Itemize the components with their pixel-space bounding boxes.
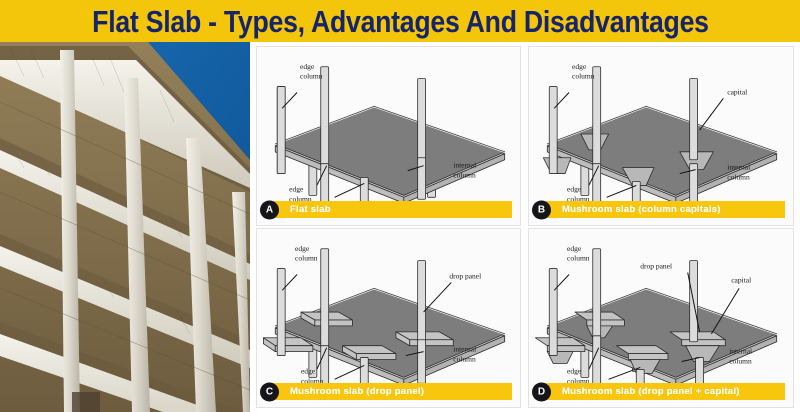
caption-label-c: Mushroom slab (drop panel): [290, 386, 424, 397]
figure-a: edge column edge column internal column: [257, 47, 520, 225]
photo-illustration: [0, 42, 250, 412]
label-drop-panel: drop panel: [449, 271, 481, 280]
label-edge-column-lower-line1: edge: [567, 184, 582, 193]
label-internal-column-line2: column: [453, 171, 476, 180]
label-internal-column-line2: column: [453, 355, 476, 364]
label-drop-panel: drop panel: [640, 262, 672, 271]
panel-c-mushroom-slab-drop-panel[interactable]: edge column edge column drop panel inter…: [256, 228, 521, 408]
title-banner: Flat Slab - Types, Advantages And Disadv…: [0, 0, 800, 42]
panel-badge-b: B: [532, 200, 551, 219]
caption-bar-d: D Mushroom slab (drop panel + capital): [543, 383, 785, 400]
label-edge-column-upper-line1: edge: [295, 244, 310, 253]
label-edge-column-upper-line2: column: [572, 72, 595, 81]
label-internal-column-line2: column: [727, 173, 750, 182]
label-capital: capital: [727, 87, 747, 96]
label-edge-column-upper-line2: column: [300, 72, 323, 81]
panel-badge-a: A: [260, 200, 279, 219]
panel-d-mushroom-slab-drop-panel-capital[interactable]: edge column edge column drop panel capit…: [528, 228, 794, 408]
panel-badge-c: C: [260, 382, 279, 401]
caption-label-d: Mushroom slab (drop panel + capital): [562, 386, 740, 397]
label-edge-column-lower-line1: edge: [289, 184, 304, 193]
label-edge-column-upper-line1: edge: [572, 62, 587, 71]
panel-badge-d: D: [532, 382, 551, 401]
figure-c: edge column edge column drop panel inter…: [257, 229, 520, 407]
poster-root: Flat Slab - Types, Advantages And Disadv…: [0, 0, 800, 412]
caption-bar-b: B Mushroom slab (column capitals): [543, 201, 785, 218]
label-edge-column-lower-line1: edge: [301, 366, 316, 375]
page-title: Flat Slab - Types, Advantages And Disadv…: [92, 6, 709, 37]
panel-b-mushroom-slab-column-capitals[interactable]: edge column edge column capital internal…: [528, 46, 794, 226]
label-internal-column-line1: internal: [727, 163, 750, 172]
label-internal-column-line2: column: [729, 356, 752, 365]
label-edge-column-upper-line2: column: [295, 254, 318, 263]
caption-label-a: Flat slab: [290, 204, 331, 215]
figure-d: edge column edge column drop panel capit…: [529, 229, 793, 407]
label-internal-column-line1: internal: [453, 161, 476, 170]
flat-slab-building-photo: [0, 42, 250, 412]
label-edge-column-upper-line1: edge: [567, 244, 582, 253]
label-edge-column-upper-line1: edge: [300, 62, 315, 71]
caption-bar-c: C Mushroom slab (drop panel): [271, 383, 512, 400]
figure-b: edge column edge column capital internal…: [529, 47, 793, 225]
label-internal-column-line1: internal: [729, 347, 752, 356]
flat-slab-types-diagram-grid: edge column edge column internal column …: [250, 42, 800, 412]
caption-bar-a: A Flat slab: [271, 201, 512, 218]
label-internal-column-line1: internal: [453, 345, 476, 354]
label-edge-column-lower-line1: edge: [567, 366, 582, 375]
label-edge-column-upper-line2: column: [567, 254, 590, 263]
panel-a-flat-slab[interactable]: edge column edge column internal column …: [256, 46, 521, 226]
label-capital: capital: [731, 275, 751, 284]
caption-label-b: Mushroom slab (column capitals): [562, 204, 721, 215]
